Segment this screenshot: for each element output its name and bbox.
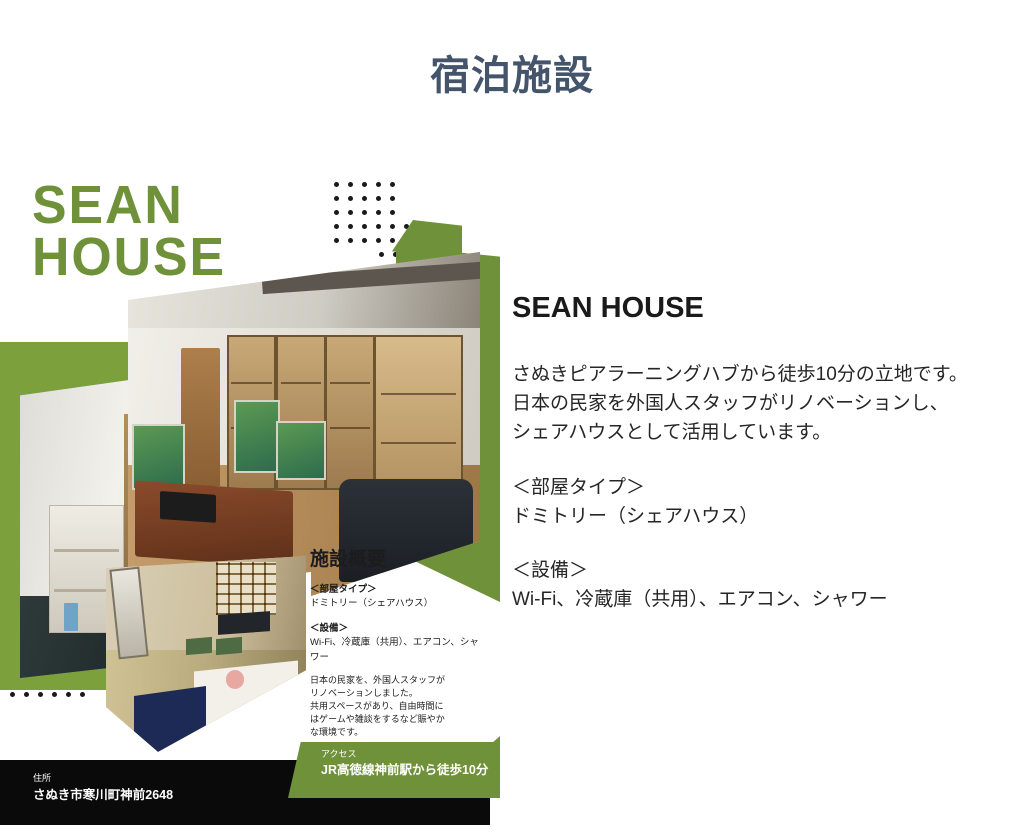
- dot-icon: [334, 224, 339, 229]
- detail-paragraph-room-type: ＜部屋タイプ＞ ドミトリー（シェアハウス）: [512, 474, 990, 532]
- dot-icon: [348, 196, 353, 201]
- dot-icon: [376, 182, 381, 187]
- dot-icon: [66, 692, 71, 697]
- dot-row: [334, 210, 454, 224]
- dot-icon: [348, 210, 353, 215]
- photo-detail: [276, 421, 326, 480]
- dot-icon: [362, 238, 367, 243]
- dot-icon: [334, 238, 339, 243]
- photo-detail: [64, 603, 77, 631]
- photo-detail: [181, 348, 220, 486]
- poster-facility-value: Wi-Fi、冷蔵庫（共用）、エアコン、シャワー: [310, 636, 480, 665]
- logo-line-2: HOUSE: [32, 232, 226, 284]
- access-value: JR高徳線神前駅から徒歩10分: [321, 761, 500, 780]
- photo-detail: [216, 562, 276, 615]
- dot-icon: [362, 196, 367, 201]
- dot-icon: [362, 182, 367, 187]
- dot-icon: [348, 224, 353, 229]
- tatami-room-photo: [106, 556, 306, 760]
- dot-icon: [348, 238, 353, 243]
- poster-room-type-value: ドミトリー（シェアハウス）: [310, 597, 480, 611]
- facility-poster: SEAN HOUSE 施設概要 ＜部屋タイプ＞ ドミトリー（シェアハウス） ＜設…: [0, 160, 500, 834]
- poster-info-heading: 施設概要: [310, 544, 480, 571]
- poster-info-block: 施設概要 ＜部屋タイプ＞ ドミトリー（シェアハウス） ＜設備＞ Wi-Fi、冷蔵…: [310, 544, 480, 739]
- dot-icon: [362, 210, 367, 215]
- dot-icon: [390, 196, 395, 201]
- dot-icon: [24, 692, 29, 697]
- dot-icon: [376, 210, 381, 215]
- dot-icon: [390, 238, 395, 243]
- detail-paragraph-overview: さぬきピアラーニングハブから徒歩10分の立地です。 日本の民家を外国人スタッフが…: [512, 361, 990, 448]
- dot-icon: [10, 692, 15, 697]
- poster-room-type-label: ＜部屋タイプ＞: [310, 581, 480, 595]
- logo-line-1: SEAN: [32, 180, 226, 232]
- dot-icon: [334, 210, 339, 215]
- dot-icon: [362, 224, 367, 229]
- detail-paragraph-facilities: ＜設備＞ Wi-Fi、冷蔵庫（共用）、エアコン、シャワー: [512, 557, 990, 615]
- photo-detail: [160, 491, 216, 522]
- dot-icon: [379, 252, 384, 257]
- poster-description: 日本の民家を、外国人スタッフが リノベーションしました。 共用スペースがあり、自…: [310, 674, 480, 739]
- dot-row: [334, 182, 454, 196]
- dot-icon: [80, 692, 85, 697]
- detail-panel: SEAN HOUSE さぬきピアラーニングハブから徒歩10分の立地です。 日本の…: [512, 292, 990, 615]
- photo-detail: [135, 480, 293, 567]
- dot-icon: [390, 224, 395, 229]
- dot-icon: [376, 238, 381, 243]
- photo-detail: [216, 636, 242, 655]
- photo-detail: [325, 335, 375, 490]
- detail-heading: SEAN HOUSE: [512, 292, 990, 325]
- page-title: 宿泊施設: [0, 52, 1024, 100]
- photo-detail: [218, 611, 270, 635]
- dot-icon: [376, 224, 381, 229]
- photo-detail: [234, 400, 280, 473]
- photo-detail: [194, 661, 298, 733]
- dot-row: [334, 196, 454, 210]
- photo-detail: [186, 636, 212, 655]
- dot-icon: [38, 692, 43, 697]
- dot-row: [10, 692, 102, 706]
- dot-icon: [376, 196, 381, 201]
- photo-detail: [134, 686, 206, 760]
- sean-house-logo: SEAN HOUSE: [32, 180, 234, 284]
- dot-icon: [52, 692, 57, 697]
- dot-icon: [390, 182, 395, 187]
- dot-icon: [334, 196, 339, 201]
- poster-facility-label: ＜設備＞: [310, 620, 480, 634]
- dot-icon: [348, 182, 353, 187]
- dot-icon: [390, 210, 395, 215]
- dot-icon: [334, 182, 339, 187]
- access-bar: アクセス JR高徳線神前駅から徒歩10分: [288, 742, 500, 798]
- access-label: アクセス: [321, 749, 500, 761]
- photo-detail: [226, 670, 244, 688]
